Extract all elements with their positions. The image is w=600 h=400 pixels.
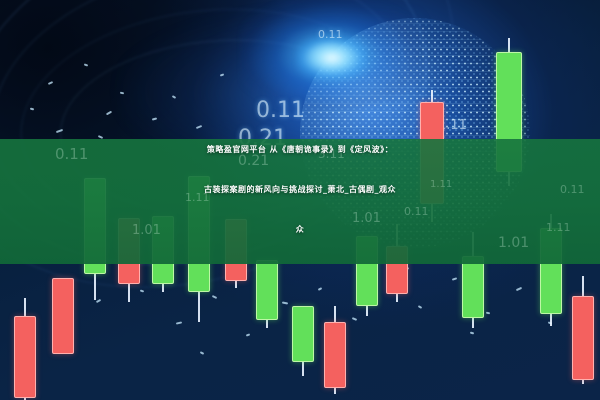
candlestick-body bbox=[572, 296, 594, 380]
band-number: 0.11 bbox=[404, 205, 429, 218]
green-overlay-band: 0.111.011.110.213.111.010.111.011.110.11… bbox=[0, 139, 600, 264]
headline-line-3: 众 bbox=[0, 226, 600, 234]
candlestick-body bbox=[324, 322, 346, 388]
candlestick-body bbox=[462, 256, 484, 318]
candlestick-body bbox=[14, 316, 36, 398]
band-number: 1.01 bbox=[352, 211, 381, 226]
band-number: 0.21 bbox=[238, 153, 269, 169]
headline-line-1: 策略盈官网平台 从《唐朝诡事录》到《定风波》： bbox=[0, 146, 600, 154]
candlestick-body bbox=[256, 260, 278, 320]
candlestick-body bbox=[52, 278, 74, 354]
band-number: 1.01 bbox=[498, 235, 529, 251]
candlestick-body bbox=[292, 306, 314, 362]
band-numbers: 0.111.011.110.213.111.010.111.011.110.11… bbox=[0, 139, 600, 264]
banner-image: 0.110.211.110.11 0.111.011.110.213.111.0… bbox=[0, 0, 600, 400]
headline-line-2: 古装探案剧的新风向与挑战探讨_萧北_古偶剧_观众 bbox=[0, 186, 600, 194]
